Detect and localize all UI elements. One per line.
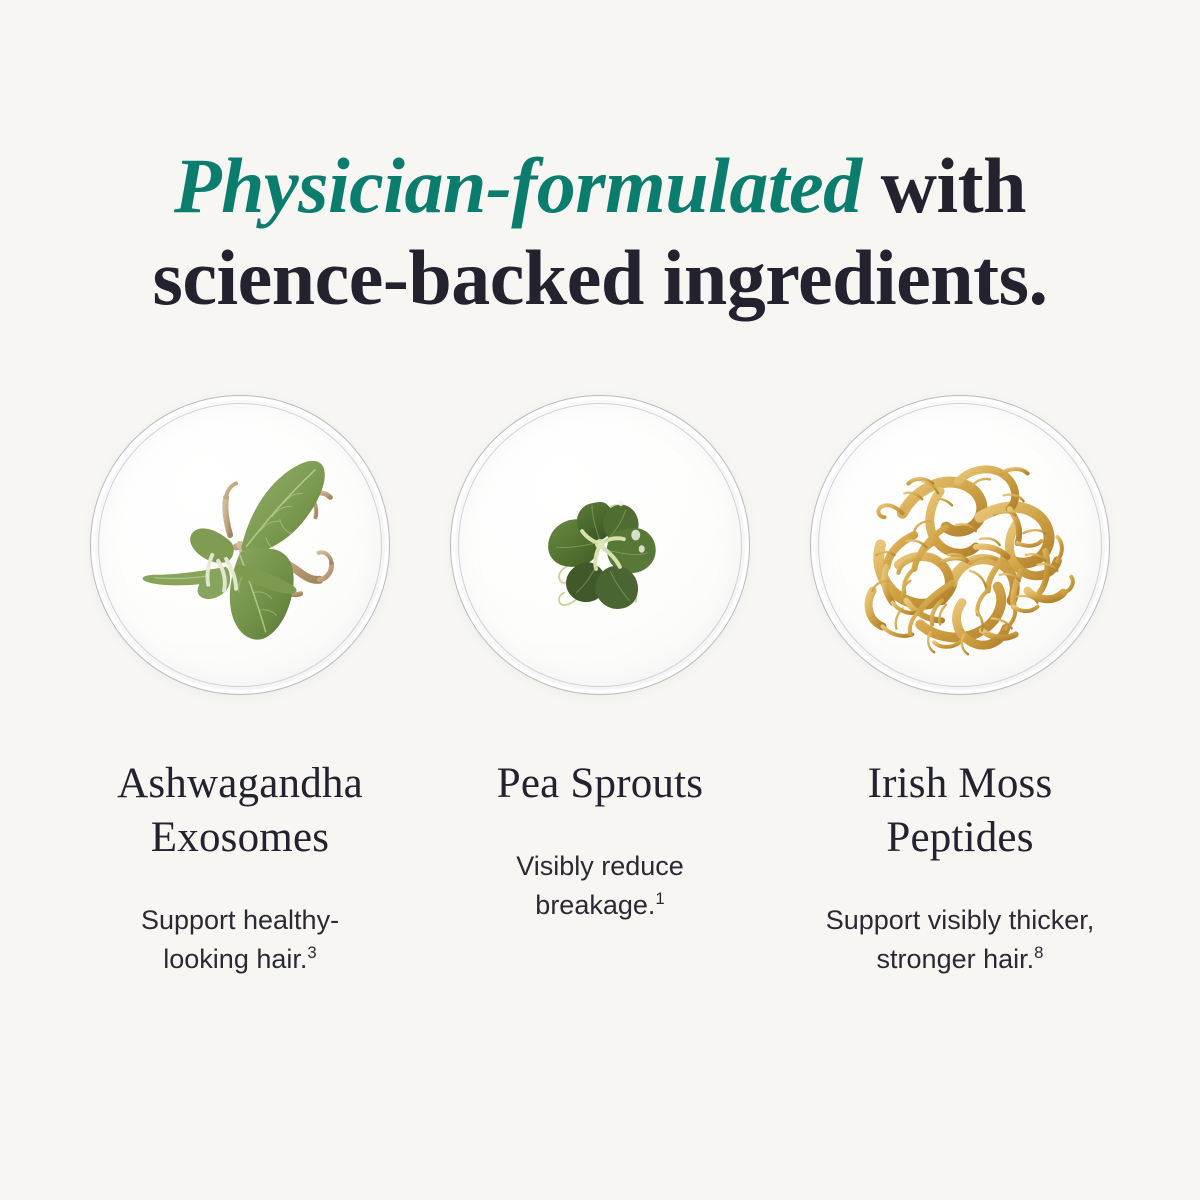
- headline-line-2: science-backed ingredients.: [0, 232, 1200, 324]
- ingredient-desc-line-2: looking hair.: [163, 944, 307, 974]
- ingredient-description-ashwagandha: Support healthy- looking hair.3: [141, 901, 339, 979]
- pea-sprouts-illustration: [451, 396, 749, 694]
- footnote-marker: 1: [655, 889, 664, 908]
- petri-dish-irish-moss-icon: [810, 395, 1110, 695]
- ingredient-title-line-1: Ashwagandha: [117, 760, 363, 807]
- ingredient-desc-line-2: stronger hair.: [877, 944, 1035, 974]
- ingredient-title-irish-moss: Irish Moss Peptides: [868, 757, 1053, 865]
- ingredient-title-line-1: Pea Sprouts: [497, 760, 703, 807]
- footnote-marker: 8: [1034, 943, 1043, 962]
- petri-dish-irish-moss-wrapper: [810, 395, 1110, 695]
- leaf-upper: [241, 461, 324, 553]
- ingredient-title-line-1: Irish Moss: [868, 760, 1053, 807]
- footnote-marker: 3: [307, 943, 316, 962]
- petri-dish-pea-sprouts-icon: [450, 395, 750, 695]
- petri-dish-pea-sprouts-wrapper: [450, 395, 750, 695]
- ingredient-title-pea-sprouts: Pea Sprouts: [497, 757, 703, 811]
- ingredient-desc-line-2: breakage.: [535, 890, 655, 920]
- irish-moss-illustration: [811, 396, 1109, 694]
- petri-dish-ashwagandha-icon: [90, 395, 390, 695]
- ingredient-title-line-2: Exosomes: [151, 814, 329, 861]
- ingredient-desc-line-1: Visibly reduce: [516, 851, 684, 881]
- ingredient-title-line-2: Peptides: [886, 814, 1033, 861]
- leaf-lower: [230, 548, 294, 640]
- ingredient-description-pea-sprouts: Visibly reduce breakage.1: [516, 847, 684, 925]
- ingredient-desc-line-1: Support healthy-: [141, 905, 339, 935]
- petri-dish-ashwagandha-wrapper: [90, 395, 390, 695]
- headline-emphasis: Physician-formulated: [174, 142, 862, 229]
- headline-rest: with: [862, 142, 1026, 229]
- ingredient-description-irish-moss: Support visibly thicker, stronger hair.8: [826, 901, 1095, 979]
- ingredient-card-irish-moss: Irish Moss Peptides Support visibly thic…: [780, 395, 1140, 980]
- ingredient-card-list: Ashwagandha Exosomes Support healthy- lo…: [0, 395, 1200, 980]
- ingredient-highlight-panel: Physician-formulated with science-backed…: [0, 0, 1200, 1200]
- ingredient-desc-line-1: Support visibly thicker,: [826, 905, 1095, 935]
- ingredient-title-ashwagandha: Ashwagandha Exosomes: [117, 757, 363, 865]
- ingredient-card-pea-sprouts: Pea Sprouts Visibly reduce breakage.1: [420, 395, 780, 925]
- ashwagandha-plant-illustration: [91, 396, 389, 694]
- page-headline: Physician-formulated with science-backed…: [0, 140, 1200, 324]
- ingredient-card-ashwagandha: Ashwagandha Exosomes Support healthy- lo…: [60, 395, 420, 980]
